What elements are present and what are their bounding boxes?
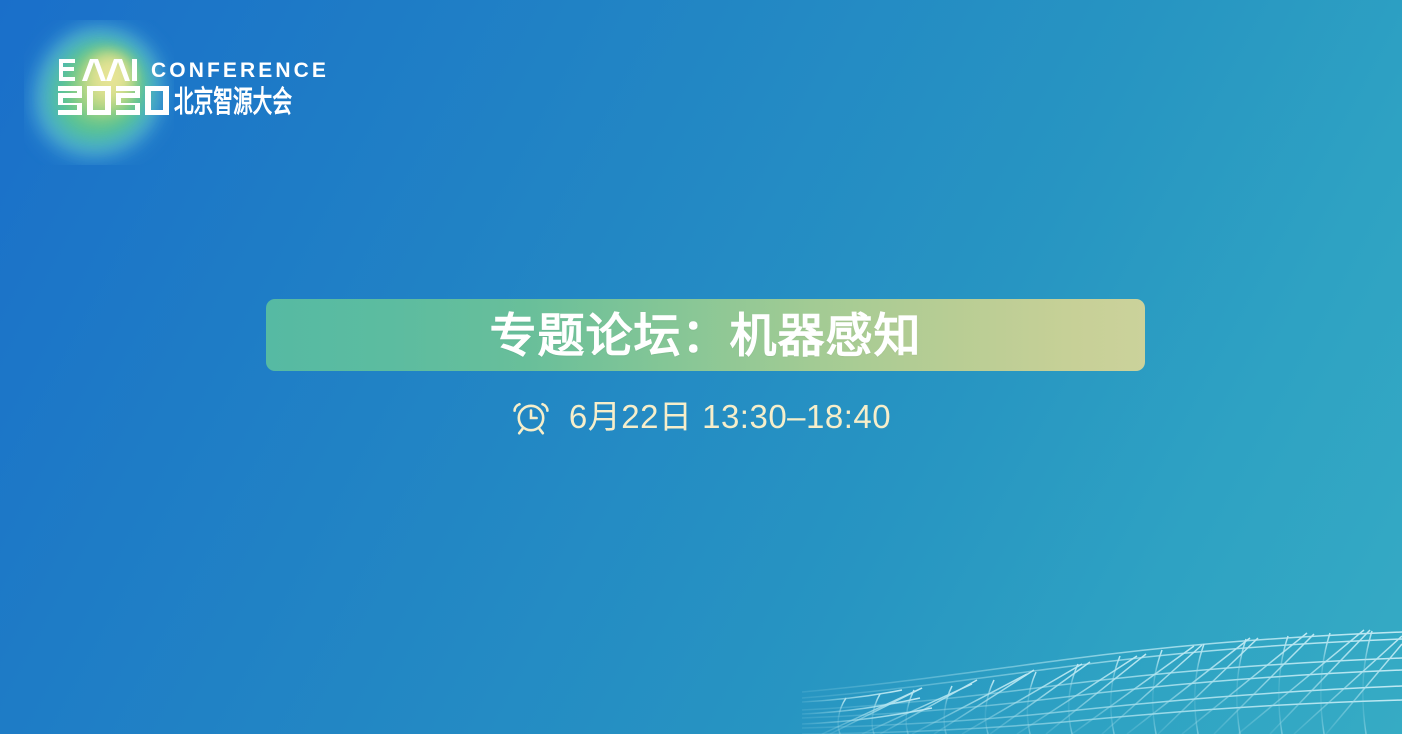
brand-logo-bottom-row: 北京智源大会 (57, 85, 357, 117)
svg-text:北京智源大会: 北京智源大会 (174, 85, 292, 116)
baai-wordmark-icon (57, 59, 137, 81)
brand-logo-top-row: CONFERENCE (57, 54, 357, 81)
chinese-lockup-icon: 北京智源大会 (57, 85, 294, 116)
session-schedule-row: 6月22日 13:30–18:40 (0, 396, 1402, 436)
session-datetime: 6月22日 13:30–18:40 (569, 400, 891, 433)
conference-slide: CONFERENCE 北京智源大会 专题论坛： (0, 0, 1402, 734)
session-title-banner: 专题论坛：机器感知 (266, 299, 1145, 371)
wireframe-mesh-decoration (802, 614, 1402, 734)
conference-wordmark: CONFERENCE (151, 60, 329, 81)
alarm-clock-icon (511, 396, 551, 436)
session-title: 专题论坛：机器感知 (490, 312, 922, 359)
brand-logo: CONFERENCE 北京智源大会 (57, 54, 357, 114)
